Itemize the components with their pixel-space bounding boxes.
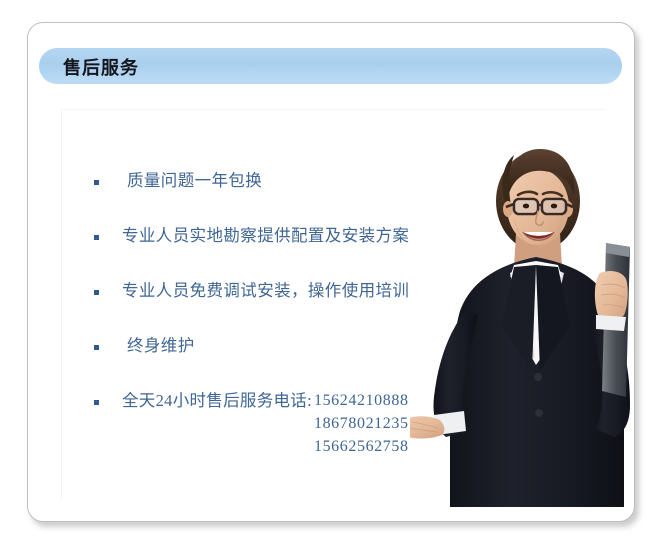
phone-number-list: 15624210888 18678021235 15662562758 bbox=[314, 389, 409, 458]
list-item: 专业人员免费调试安装，操作使用培训 bbox=[94, 279, 454, 303]
bullet-square-icon bbox=[94, 400, 99, 405]
bullet-square-icon bbox=[94, 290, 99, 295]
section-header-bar: 售后服务 bbox=[39, 48, 622, 84]
list-item: 终身维护 bbox=[94, 334, 454, 358]
phone-number: 15662562758 bbox=[314, 435, 409, 458]
list-item-label: 终身维护 bbox=[127, 334, 195, 358]
businesswoman-presenting-photo bbox=[410, 115, 662, 507]
bullet-square-icon bbox=[94, 235, 99, 240]
phone-number: 15624210888 bbox=[314, 389, 409, 412]
bullet-square-icon bbox=[94, 180, 99, 185]
contact-label: 全天24小时售后服务电话: bbox=[122, 389, 312, 413]
contact-group: 全天24小时售后服务电话: 15624210888 18678021235 15… bbox=[122, 389, 409, 458]
slide-card: 售后服务 质量问题一年包换 专业人员实地勘察提供配置及安装方案 专业人员免费调试… bbox=[27, 22, 635, 522]
slide-root: 售后服务 质量问题一年包换 专业人员实地勘察提供配置及安装方案 专业人员免费调试… bbox=[0, 0, 663, 550]
service-bullet-list: 质量问题一年包换 专业人员实地勘察提供配置及安装方案 专业人员免费调试安装，操作… bbox=[94, 169, 454, 458]
list-item-label: 专业人员实地勘察提供配置及安装方案 bbox=[122, 224, 409, 248]
list-item: 质量问题一年包换 bbox=[94, 169, 454, 193]
list-item: 专业人员实地勘察提供配置及安装方案 bbox=[94, 224, 454, 248]
list-item-contact: 全天24小时售后服务电话: 15624210888 18678021235 15… bbox=[94, 389, 454, 458]
list-item-label: 质量问题一年包换 bbox=[127, 169, 262, 193]
page-title: 售后服务 bbox=[63, 54, 139, 80]
phone-number: 18678021235 bbox=[314, 412, 409, 435]
bullet-square-icon bbox=[94, 345, 99, 350]
list-item-label: 专业人员免费调试安装，操作使用培训 bbox=[122, 279, 409, 303]
